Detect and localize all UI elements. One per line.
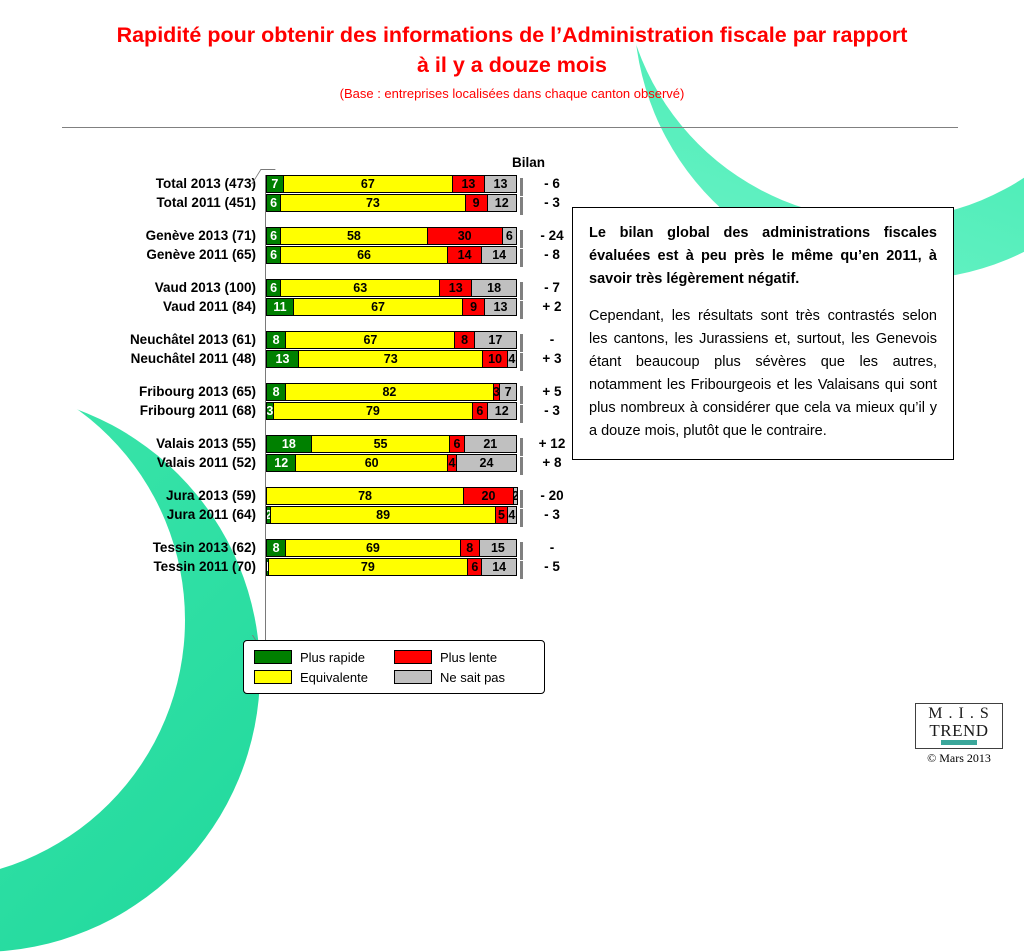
bar-shadow — [520, 197, 523, 215]
legend-swatch-yellow — [254, 670, 292, 684]
bar-segment-ne-sait-pas: 17 — [474, 331, 517, 349]
bar-shadow — [520, 353, 523, 371]
chart-bar: 78202 — [266, 487, 520, 505]
bilan-value: - 3 — [526, 506, 578, 524]
bar-segment-plus-lente: 30 — [427, 227, 503, 245]
legend-row: Plus rapide Plus lente — [254, 647, 534, 667]
bar-segment-ne-sait-pas: 12 — [487, 402, 517, 420]
bar-segment-equivalente: 78 — [266, 487, 464, 505]
commentary-paragraph-1: Le bilan global des administrations fisc… — [589, 222, 937, 291]
bar-segment-plus-lente: 6 — [467, 558, 482, 576]
bar-segment-ne-sait-pas: 15 — [479, 539, 517, 557]
bilan-value: - 24 — [526, 227, 578, 245]
bar-segment-plus-rapide: 8 — [266, 331, 286, 349]
bar-segment-plus-lente: 20 — [463, 487, 514, 505]
legend-label-ne-sait-pas: Ne sait pas — [440, 670, 505, 685]
chart-row: Total 2011 (451)673912- 3 — [60, 194, 550, 212]
bar-segment-equivalente: 67 — [285, 331, 455, 349]
bar-shadow — [520, 561, 523, 579]
chart-bar: 7671313 — [266, 175, 520, 193]
chart-row: Vaud 2011 (84)1167913+ 2 — [60, 298, 550, 316]
bilan-value: - 3 — [526, 402, 578, 420]
bar-segment-ne-sait-pas: 24 — [456, 454, 517, 472]
chart-group-gap — [60, 265, 550, 279]
chart-bar: 1260424 — [266, 454, 520, 472]
bar-segment-equivalente: 79 — [273, 402, 474, 420]
chart-bar: 658306 — [266, 227, 520, 245]
bar-segment-equivalente: 82 — [285, 383, 493, 401]
bar-segment-ne-sait-pas: 14 — [481, 246, 517, 264]
chart-bar: 6631318 — [266, 279, 520, 297]
bilan-value: - 7 — [526, 279, 578, 297]
chart-bar: 867817 — [266, 331, 520, 349]
bar-segment-plus-rapide: 18 — [266, 435, 312, 453]
chart-bar: 28954 — [266, 506, 520, 524]
bar-shadow — [520, 249, 523, 267]
chart-bar: 1373104 — [266, 350, 520, 368]
chart-row-label: Genève 2013 (71) — [60, 227, 256, 245]
chart-row: Jura 2011 (64)28954- 3 — [60, 506, 550, 524]
commentary-paragraph-2: Cependant, les résultats sont très contr… — [589, 305, 937, 443]
chart-bar: 1855621 — [266, 435, 520, 453]
bar-segment-equivalente: 58 — [280, 227, 427, 245]
logo-area: M . I . S TREND © Mars 2013 — [915, 703, 1003, 766]
chart-row-label: Valais 2013 (55) — [60, 435, 256, 453]
chart-group-gap — [60, 213, 550, 227]
bar-segment-ne-sait-pas: 13 — [484, 298, 517, 316]
slide-header: Rapidité pour obtenir des informations d… — [0, 20, 1024, 101]
page-title: Rapidité pour obtenir des informations d… — [112, 20, 912, 80]
chart-row-label: Vaud 2011 (84) — [60, 298, 256, 316]
bar-segment-equivalente: 60 — [295, 454, 447, 472]
legend-swatch-grey — [394, 670, 432, 684]
legend-item-plus-lente: Plus lente — [394, 650, 534, 665]
chart-group-gap — [60, 421, 550, 435]
chart-row-label: Jura 2013 (59) — [60, 487, 256, 505]
chart-row: Jura 2013 (59)78202- 20 — [60, 487, 550, 505]
bar-segment-ne-sait-pas: 13 — [484, 175, 517, 193]
bar-segment-equivalente: 69 — [285, 539, 460, 557]
legend-swatch-red — [394, 650, 432, 664]
stacked-bar-chart: Bilan Total 2013 (473)7671313- 6Total 20… — [60, 155, 550, 577]
chart-row-label: Total 2011 (451) — [60, 194, 256, 212]
bilan-value: + 5 — [526, 383, 578, 401]
page-subtitle: (Base : entreprises localisées dans chaq… — [0, 86, 1024, 101]
chart-group-gap — [60, 473, 550, 487]
bar-shadow — [520, 301, 523, 319]
bar-segment-plus-rapide: 11 — [266, 298, 294, 316]
bar-segment-ne-sait-pas: 12 — [487, 194, 517, 212]
chart-row-label: Genève 2011 (65) — [60, 246, 256, 264]
bar-segment-ne-sait-pas: 4 — [507, 350, 517, 368]
bar-shadow — [520, 509, 523, 527]
chart-row: Tessin 2013 (62)869815- — [60, 539, 550, 557]
bar-segment-ne-sait-pas: 7 — [499, 383, 517, 401]
chart-bar: 88237 — [266, 383, 520, 401]
chart-group-gap — [60, 525, 550, 539]
chart-row-label: Neuchâtel 2011 (48) — [60, 350, 256, 368]
bar-segment-plus-lente: 13 — [439, 279, 472, 297]
chart-row: Genève 2013 (71)658306- 24 — [60, 227, 550, 245]
chart-row-label: Neuchâtel 2013 (61) — [60, 331, 256, 349]
chart-row: Valais 2013 (55)1855621+ 12 — [60, 435, 550, 453]
bilan-value: + 12 — [526, 435, 578, 453]
bar-segment-ne-sait-pas: 21 — [464, 435, 517, 453]
bar-segment-plus-rapide: 6 — [266, 194, 281, 212]
bar-segment-ne-sait-pas: 18 — [471, 279, 517, 297]
chart-legend: Plus rapide Plus lente Equivalente Ne sa… — [243, 640, 545, 694]
chart-row-label: Valais 2011 (52) — [60, 454, 256, 472]
logo-text-mis: M . I . S — [916, 706, 1002, 722]
bar-segment-plus-lente: 8 — [454, 331, 474, 349]
bilan-value: + 2 — [526, 298, 578, 316]
bar-segment-equivalente: 79 — [268, 558, 469, 576]
bilan-value: - 3 — [526, 194, 578, 212]
legend-item-ne-sait-pas: Ne sait pas — [394, 670, 534, 685]
logo-accent-bar — [941, 740, 977, 745]
bilan-value: + 3 — [526, 350, 578, 368]
page-number: 19 — [969, 18, 998, 47]
bar-segment-plus-lente: 13 — [452, 175, 485, 193]
chart-bar: 179614 — [266, 558, 520, 576]
chart-bar: 869815 — [266, 539, 520, 557]
chart-row-label: Total 2013 (473) — [60, 175, 256, 193]
bar-segment-plus-rapide: 6 — [266, 279, 281, 297]
chart-row-label: Jura 2011 (64) — [60, 506, 256, 524]
copyright-text: © Mars 2013 — [915, 751, 1003, 766]
logo-text-trend: TREND — [916, 722, 1002, 739]
bar-segment-plus-lente: 9 — [465, 194, 488, 212]
chart-row: Genève 2011 (65)6661414- 8 — [60, 246, 550, 264]
chart-row: Neuchâtel 2011 (48)1373104+ 3 — [60, 350, 550, 368]
chart-row: Total 2013 (473)7671313- 6 — [60, 175, 550, 193]
chart-axis-line — [265, 175, 266, 645]
bar-segment-equivalente: 63 — [280, 279, 440, 297]
chart-bar: 379612 — [266, 402, 520, 420]
bar-segment-plus-lente: 6 — [472, 402, 487, 420]
bar-segment-ne-sait-pas: 14 — [481, 558, 517, 576]
bar-shadow — [520, 405, 523, 423]
bar-segment-plus-lente: 14 — [447, 246, 483, 264]
bar-segment-plus-lente: 10 — [482, 350, 507, 368]
legend-item-equivalente: Equivalente — [254, 670, 394, 685]
chart-bar: 6661414 — [266, 246, 520, 264]
chart-row-label: Vaud 2013 (100) — [60, 279, 256, 297]
chart-row: Fribourg 2013 (65)88237+ 5 — [60, 383, 550, 401]
bar-segment-plus-lente: 6 — [449, 435, 464, 453]
mis-trend-logo: M . I . S TREND — [915, 703, 1003, 749]
bar-segment-equivalente: 66 — [280, 246, 448, 264]
chart-row: Neuchâtel 2013 (61)867817- — [60, 331, 550, 349]
bar-segment-plus-rapide: 8 — [266, 539, 286, 557]
bar-segment-plus-lente: 9 — [462, 298, 485, 316]
chart-bar: 1167913 — [266, 298, 520, 316]
bar-segment-plus-rapide: 6 — [266, 246, 281, 264]
chart-group-gap — [60, 369, 550, 383]
chart-bar: 673912 — [266, 194, 520, 212]
bar-segment-plus-rapide: 6 — [266, 227, 281, 245]
bar-segment-equivalente: 67 — [283, 175, 453, 193]
chart-row: Valais 2011 (52)1260424+ 8 — [60, 454, 550, 472]
chart-row-label: Fribourg 2013 (65) — [60, 383, 256, 401]
chart-row: Tessin 2011 (70)179614- 5 — [60, 558, 550, 576]
bar-segment-plus-rapide: 8 — [266, 383, 286, 401]
bar-shadow — [520, 457, 523, 475]
bilan-value: - — [526, 331, 578, 349]
bilan-value: + 8 — [526, 454, 578, 472]
bar-segment-equivalente: 67 — [293, 298, 463, 316]
bar-segment-equivalente: 55 — [311, 435, 451, 453]
bilan-value: - 5 — [526, 558, 578, 576]
bilan-value: - — [526, 539, 578, 557]
legend-item-plus-rapide: Plus rapide — [254, 650, 394, 665]
bar-segment-plus-rapide: 12 — [266, 454, 296, 472]
chart-row: Fribourg 2011 (68)379612- 3 — [60, 402, 550, 420]
legend-row: Equivalente Ne sait pas — [254, 667, 534, 687]
bilan-value: - 8 — [526, 246, 578, 264]
bar-segment-ne-sait-pas: 2 — [513, 487, 518, 505]
bar-segment-ne-sait-pas: 4 — [507, 506, 517, 524]
bar-segment-equivalente: 73 — [280, 194, 465, 212]
bar-segment-ne-sait-pas: 6 — [502, 227, 517, 245]
bar-segment-plus-rapide: 13 — [266, 350, 299, 368]
chart-row: Vaud 2013 (100)6631318- 7 — [60, 279, 550, 297]
chart-row-label: Tessin 2013 (62) — [60, 539, 256, 557]
chart-row-label: Tessin 2011 (70) — [60, 558, 256, 576]
bilan-value: - 6 — [526, 175, 578, 193]
legend-label-equivalente: Equivalente — [300, 670, 368, 685]
legend-label-plus-rapide: Plus rapide — [300, 650, 365, 665]
chart-group-gap — [60, 317, 550, 331]
legend-label-plus-lente: Plus lente — [440, 650, 497, 665]
legend-swatch-green — [254, 650, 292, 664]
bar-segment-equivalente: 73 — [298, 350, 483, 368]
bar-segment-plus-lente: 8 — [460, 539, 480, 557]
bar-segment-equivalente: 89 — [270, 506, 496, 524]
bilan-value: - 20 — [526, 487, 578, 505]
commentary-box: Le bilan global des administrations fisc… — [572, 207, 954, 460]
chart-rows-container: Total 2013 (473)7671313- 6Total 2011 (45… — [60, 155, 550, 576]
chart-row-label: Fribourg 2011 (68) — [60, 402, 256, 420]
header-divider — [62, 127, 958, 128]
